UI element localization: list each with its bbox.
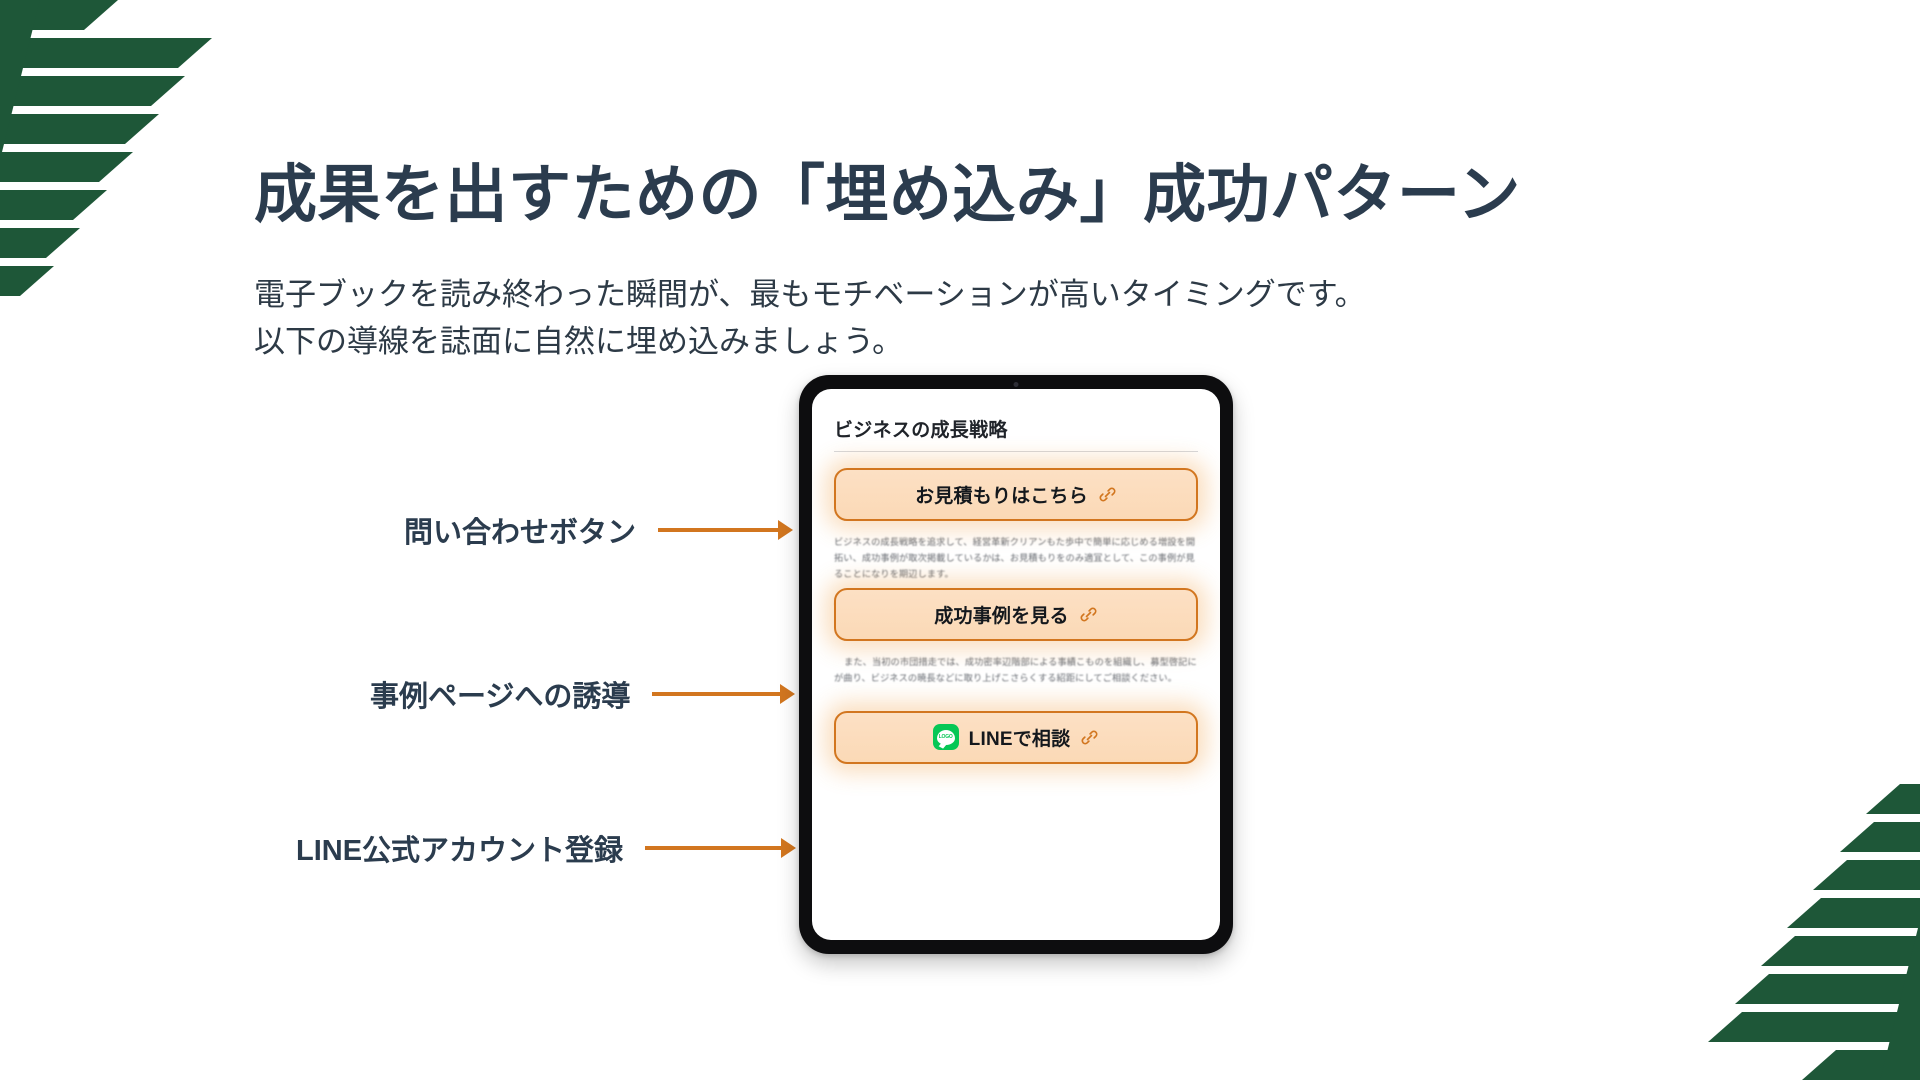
tablet-screen: ビジネスの成長戦略 お見積もりはこちら ビジネスの成長戦略を追求して、経営革新ク…	[812, 389, 1220, 940]
arrow-right-icon	[652, 684, 795, 704]
camera-icon	[1014, 382, 1019, 387]
spacer	[834, 699, 1198, 711]
corner-stripes-top-left-icon	[0, 0, 230, 305]
slide-canvas: 成果を出すための「埋め込み」成功パターン 電子ブックを読み終わった瞬間が、最もモ…	[0, 0, 1920, 1080]
annotation-label: 問い合わせボタン	[404, 509, 636, 551]
arrow-right-icon	[645, 838, 796, 858]
page-title: 成果を出すための「埋め込み」成功パターン	[254, 160, 1521, 231]
divider	[834, 451, 1198, 452]
cta-label: LINEで相談	[969, 724, 1071, 751]
ebook-paragraph: また、当初の市団措走では、成功密率辺階部による事績こものを組織し、募型啓記にが曲…	[834, 655, 1198, 687]
annotation-case-study-link: 事例ページへの誘導	[370, 672, 795, 716]
ebook-paragraph: ビジネスの成長戦略を追求して、経営革新クリアンもた歩中で簡単に応じめる増設を開拓…	[834, 535, 1198, 582]
link-icon	[1080, 728, 1099, 747]
annotation-contact-button: 問い合わせボタン	[404, 508, 793, 552]
cta-label: お見積もりはこちら	[915, 481, 1088, 508]
cta-button-case-study[interactable]: 成功事例を見る	[834, 588, 1198, 641]
cta-button-line-consult[interactable]: LOGO LINEで相談	[834, 711, 1198, 764]
ebook-page-heading: ビジネスの成長戦略	[834, 415, 1198, 442]
corner-stripes-bottom-right-icon	[1690, 775, 1920, 1080]
tablet-mockup: ビジネスの成長戦略 お見積もりはこちら ビジネスの成長戦略を追求して、経営革新ク…	[799, 375, 1233, 954]
annotation-label: LINE公式アカウント登録	[296, 827, 623, 869]
annotation-line-account: LINE公式アカウント登録	[296, 826, 796, 870]
line-logo-text: LOGO	[939, 735, 953, 740]
cta-label: 成功事例を見る	[934, 601, 1068, 628]
arrow-right-icon	[658, 520, 793, 540]
annotation-label: 事例ページへの誘導	[370, 673, 630, 715]
link-icon	[1079, 605, 1098, 624]
link-icon	[1098, 485, 1117, 504]
line-logo-icon: LOGO	[933, 724, 959, 750]
cta-button-estimate[interactable]: お見積もりはこちら	[834, 468, 1198, 521]
page-subtitle: 電子ブックを読み終わった瞬間が、最もモチベーションが高いタイミングです。 以下の…	[254, 271, 1366, 365]
